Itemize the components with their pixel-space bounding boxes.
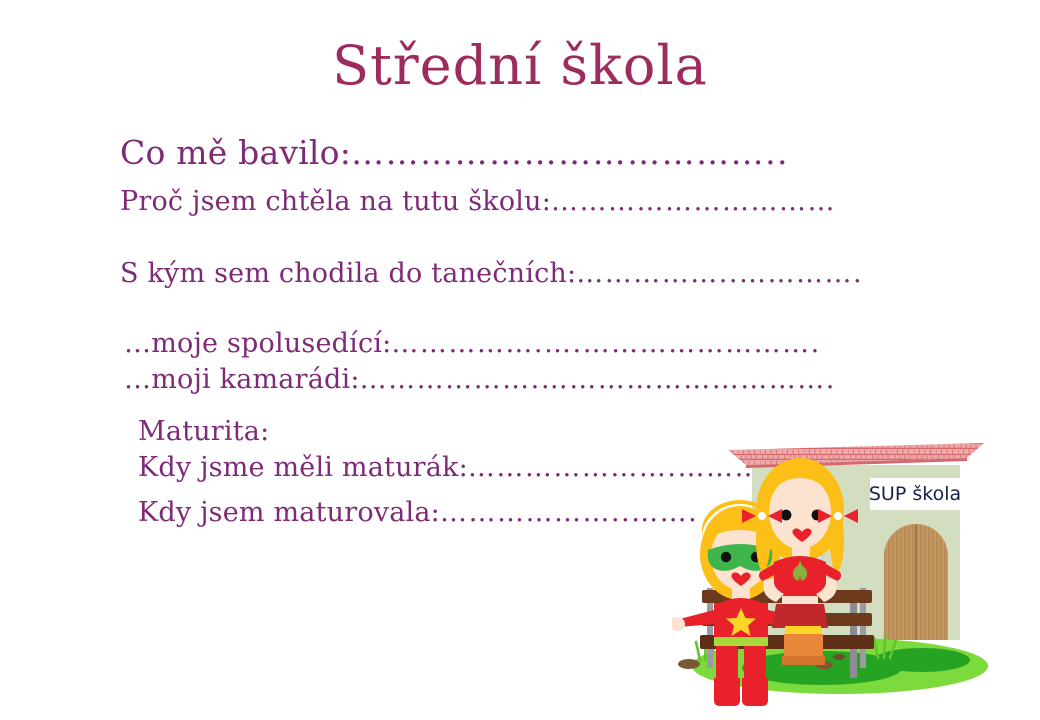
worksheet-line-moji-kamaradi: …moji kamarádi:……………….………………………….: [124, 364, 836, 395]
line-dots: ……………..………….: [576, 258, 863, 289]
line-label: Proč jsem chtěla na tutu školu:: [120, 186, 551, 217]
line-label: Kdy jsem maturovala:: [138, 497, 440, 528]
line-dots: ………………………………..: [351, 133, 789, 172]
line-dots: …………….….…………………….: [391, 328, 820, 359]
worksheet-line-moje-spolusedici: …moje spolusedící:…………….….…………………….: [124, 328, 821, 359]
line-dots: …………………………: [551, 186, 836, 217]
school-sign-text: SUP škola: [869, 483, 961, 505]
line-label: …moji kamarádi:: [124, 364, 360, 395]
worksheet-line-kdy-jsem-maturovala: Kdy jsem maturovala:………………..…….: [138, 497, 698, 528]
worksheet-line-co-me-bavilo: Co mě bavilo:………………………………..: [120, 133, 789, 172]
wooden-arched-door: [884, 524, 948, 640]
line-label: S kým sem chodila do tanečních:: [120, 258, 576, 289]
worksheet-page: Střední škola Co mě bavilo:……………………………….…: [0, 0, 1040, 720]
line-label: Maturita:: [138, 416, 269, 447]
line-label: Co mě bavilo:: [120, 133, 351, 172]
line-label: …moje spolusedící:: [124, 328, 391, 359]
line-dots: ……………….………………………….: [360, 364, 836, 395]
school-sign: SUP škola: [869, 478, 961, 510]
line-dots: ………………..…….: [440, 497, 698, 528]
worksheet-line-s-kym-tanecnich: S kým sem chodila do tanečních:……………..………: [120, 258, 863, 289]
worksheet-line-proc-jsem-chtela: Proč jsem chtěla na tutu školu:…………………………: [120, 186, 836, 217]
school-scene-illustration: SUP škola: [672, 438, 1040, 720]
line-label: Kdy jsme měli maturák:: [138, 452, 468, 483]
worksheet-heading-maturita: Maturita:: [138, 416, 269, 447]
roof-shingles: [728, 443, 984, 468]
